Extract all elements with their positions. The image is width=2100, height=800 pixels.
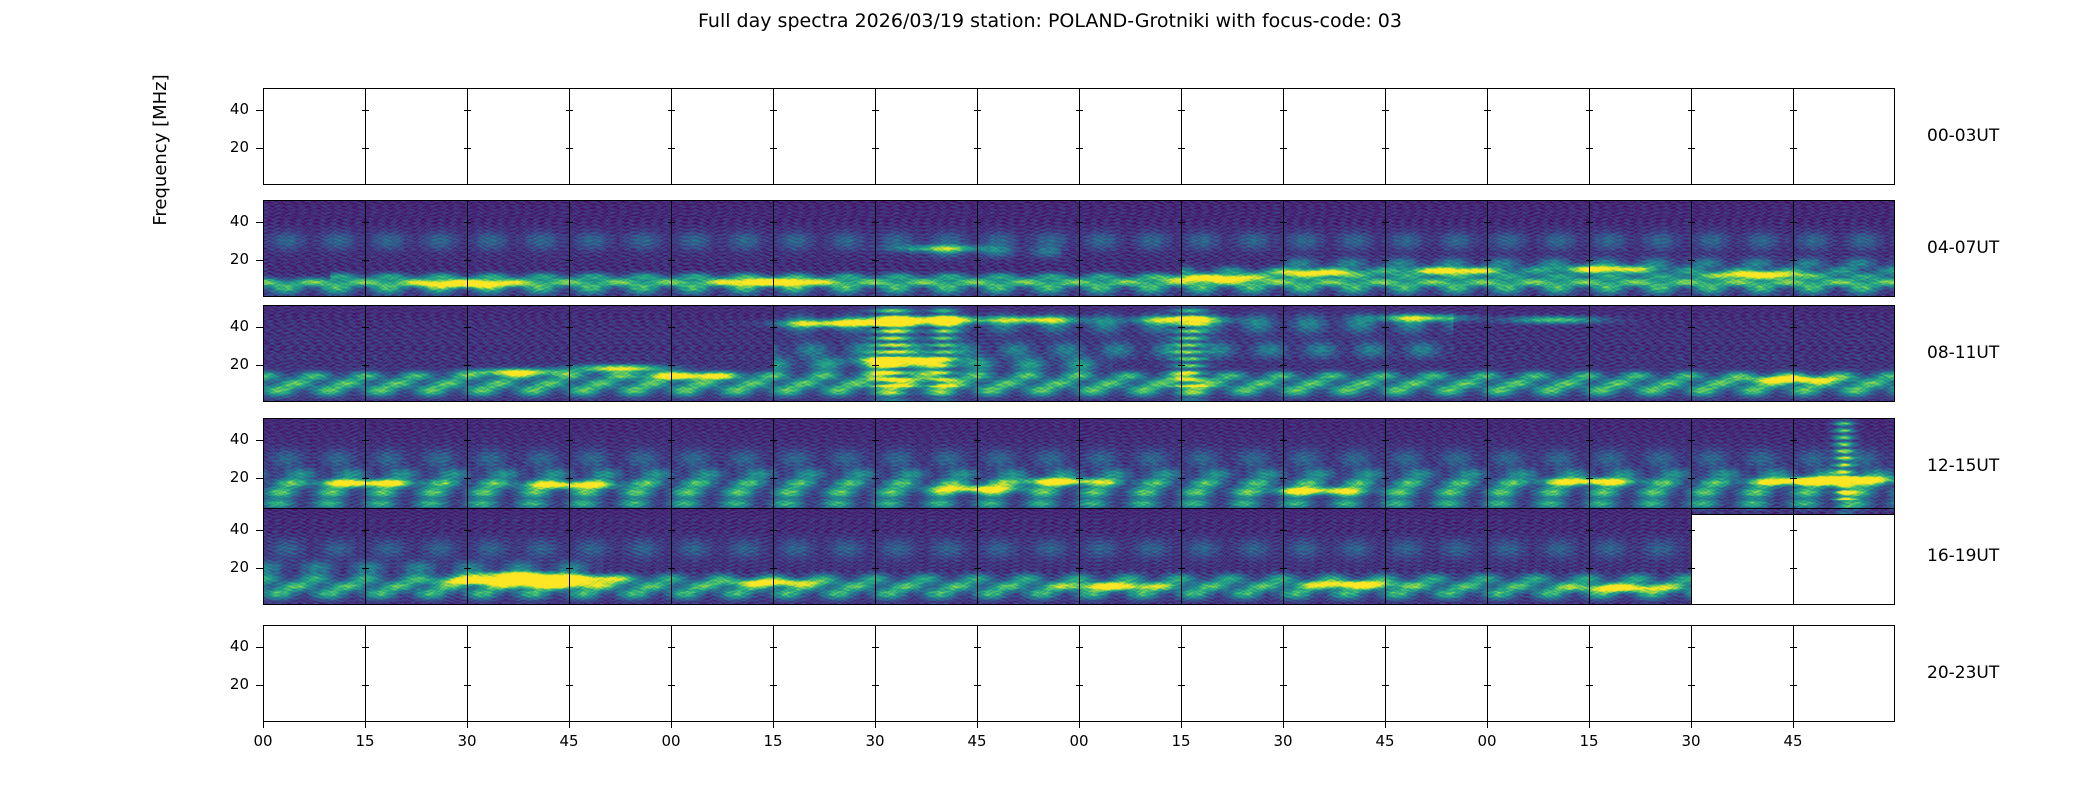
y-tick-inner: [668, 148, 675, 149]
y-tick-inner: [1382, 647, 1389, 648]
y-tick-inner: [974, 685, 981, 686]
x-tick-label: 45: [539, 732, 599, 750]
panel-divider: [569, 88, 570, 185]
y-tick: [256, 110, 263, 111]
panel-divider: [1385, 88, 1386, 185]
x-tick-label: 30: [437, 732, 497, 750]
x-tick: [569, 722, 570, 728]
x-tick: [1589, 722, 1590, 728]
y-tick-inner: [1280, 148, 1287, 149]
y-tick-inner: [1688, 148, 1695, 149]
y-tick-inner: [1484, 110, 1491, 111]
y-tick-inner: [872, 685, 879, 686]
y-tick-inner: [566, 647, 573, 648]
y-tick: [256, 647, 263, 648]
y-tick-label: 20: [205, 138, 249, 156]
y-tick-inner: [770, 148, 777, 149]
panel-divider: [875, 625, 876, 722]
y-tick-inner: [1790, 110, 1797, 111]
y-tick-label: 20: [205, 250, 249, 268]
y-tick-inner: [1178, 685, 1185, 686]
y-tick-inner: [1280, 685, 1287, 686]
y-tick-inner: [1790, 685, 1797, 686]
panel-divider: [1385, 625, 1386, 722]
y-tick: [256, 222, 263, 223]
y-tick-label: 40: [205, 212, 249, 230]
x-tick: [1385, 722, 1386, 728]
y-tick-label: 20: [205, 675, 249, 693]
y-tick: [256, 260, 263, 261]
spectrogram-heatmap: [263, 418, 1895, 515]
panel-divider: [1079, 625, 1080, 722]
row-frame: [263, 625, 1895, 722]
y-tick-inner: [1484, 685, 1491, 686]
panel-divider: [1079, 88, 1080, 185]
x-tick-label: 30: [845, 732, 905, 750]
spectrogram-heatmap: [263, 508, 1691, 605]
y-tick-inner: [1790, 530, 1797, 531]
y-tick-label: 40: [205, 430, 249, 448]
y-tick-inner: [872, 647, 879, 648]
panel-divider: [1793, 88, 1794, 185]
row-label-08-11ut: 08-11UT: [1927, 343, 1999, 363]
x-tick: [1181, 722, 1182, 728]
panel-divider: [977, 625, 978, 722]
panel-divider: [1793, 625, 1794, 722]
y-tick-label: 40: [205, 317, 249, 335]
y-tick-inner: [1688, 685, 1695, 686]
y-tick: [256, 478, 263, 479]
y-tick: [256, 440, 263, 441]
spectrogram-row: [263, 200, 1895, 297]
y-tick-inner: [1586, 685, 1593, 686]
panel-divider: [365, 88, 366, 185]
y-tick: [256, 568, 263, 569]
y-tick-inner: [770, 685, 777, 686]
y-tick-inner: [1178, 110, 1185, 111]
panel-divider: [1589, 88, 1590, 185]
y-tick-inner: [668, 685, 675, 686]
x-tick: [467, 722, 468, 728]
panel-divider: [1691, 88, 1692, 185]
y-tick-label: 20: [205, 468, 249, 486]
y-tick-inner: [566, 148, 573, 149]
y-tick: [256, 685, 263, 686]
y-tick-inner: [1076, 148, 1083, 149]
panel-divider: [467, 88, 468, 185]
y-tick-label: 20: [205, 355, 249, 373]
y-tick-inner: [1790, 568, 1797, 569]
y-tick-inner: [974, 110, 981, 111]
panel-divider: [773, 625, 774, 722]
y-tick-label: 40: [205, 637, 249, 655]
y-tick-inner: [1382, 148, 1389, 149]
y-tick-inner: [1076, 110, 1083, 111]
x-tick-label: 45: [1763, 732, 1823, 750]
panel-divider: [1283, 88, 1284, 185]
y-tick-inner: [1178, 647, 1185, 648]
panel-divider: [365, 625, 366, 722]
panel-divider: [773, 88, 774, 185]
spectrogram-row: [263, 305, 1895, 402]
y-tick-inner: [1790, 647, 1797, 648]
spectrogram-heatmap: [263, 305, 1895, 402]
x-tick-label: 15: [743, 732, 803, 750]
y-tick-inner: [464, 685, 471, 686]
x-tick: [1487, 722, 1488, 728]
y-tick-inner: [1178, 148, 1185, 149]
spectrogram-row: [263, 88, 1895, 185]
y-tick-inner: [770, 647, 777, 648]
y-tick-inner: [1076, 685, 1083, 686]
row-label-16-19ut: 16-19UT: [1927, 546, 1999, 566]
panel-divider: [1487, 88, 1488, 185]
y-tick-label: 20: [205, 558, 249, 576]
x-tick-label: 30: [1253, 732, 1313, 750]
y-tick-inner: [1280, 647, 1287, 648]
y-tick-inner: [464, 148, 471, 149]
panel-divider: [569, 625, 570, 722]
x-tick-label: 45: [1355, 732, 1415, 750]
y-tick-inner: [362, 148, 369, 149]
x-tick-label: 00: [233, 732, 293, 750]
y-tick-inner: [668, 647, 675, 648]
x-tick: [263, 722, 264, 728]
y-tick-inner: [362, 110, 369, 111]
x-tick-label: 45: [947, 732, 1007, 750]
y-tick: [256, 327, 263, 328]
spectrogram-row: [263, 418, 1895, 515]
row-label-12-15ut: 12-15UT: [1927, 456, 1999, 476]
x-tick: [977, 722, 978, 728]
row-label-04-07ut: 04-07UT: [1927, 238, 1999, 258]
panel-divider: [1181, 88, 1182, 185]
y-tick-inner: [1688, 110, 1695, 111]
panel-divider: [1283, 625, 1284, 722]
y-tick-inner: [872, 148, 879, 149]
y-tick-inner: [1382, 110, 1389, 111]
spectrogram-row: [263, 508, 1895, 605]
y-tick-inner: [1484, 148, 1491, 149]
y-tick-inner: [1790, 148, 1797, 149]
y-tick: [256, 365, 263, 366]
x-tick: [671, 722, 672, 728]
y-tick-inner: [1688, 647, 1695, 648]
x-tick: [875, 722, 876, 728]
y-tick-inner: [362, 647, 369, 648]
y-tick-inner: [1586, 647, 1593, 648]
x-tick-label: 00: [1457, 732, 1517, 750]
y-tick-inner: [1382, 685, 1389, 686]
x-tick: [773, 722, 774, 728]
panel-divider: [1487, 625, 1488, 722]
panel-divider: [467, 625, 468, 722]
spectrogram-figure: Full day spectra 2026/03/19 station: POL…: [0, 0, 2100, 800]
panel-divider: [671, 88, 672, 185]
y-tick-inner: [1280, 110, 1287, 111]
y-tick-inner: [872, 110, 879, 111]
panel-divider: [671, 625, 672, 722]
y-axis-label: Frequency [MHz]: [150, 40, 171, 260]
page-title: Full day spectra 2026/03/19 station: POL…: [0, 10, 2100, 32]
x-tick: [1079, 722, 1080, 728]
y-tick-inner: [566, 110, 573, 111]
x-tick-label: 15: [1151, 732, 1211, 750]
x-tick-label: 00: [641, 732, 701, 750]
y-tick-inner: [1076, 647, 1083, 648]
panel-divider: [977, 88, 978, 185]
spectrogram-heatmap: [263, 200, 1895, 297]
y-tick: [256, 148, 263, 149]
panel-divider: [1691, 508, 1692, 605]
panel-divider: [1181, 625, 1182, 722]
y-tick-inner: [464, 110, 471, 111]
panel-divider: [875, 88, 876, 185]
y-tick-inner: [974, 647, 981, 648]
y-tick-inner: [974, 148, 981, 149]
y-tick-inner: [1586, 110, 1593, 111]
row-frame: [263, 88, 1895, 185]
x-tick-label: 00: [1049, 732, 1109, 750]
x-tick: [1283, 722, 1284, 728]
spectrogram-row: [263, 625, 1895, 722]
panel-divider: [1691, 625, 1692, 722]
y-tick-inner: [1586, 148, 1593, 149]
y-tick-inner: [362, 685, 369, 686]
row-label-00-03ut: 00-03UT: [1927, 126, 1999, 146]
row-label-20-23ut: 20-23UT: [1927, 663, 1999, 683]
y-tick-label: 40: [205, 520, 249, 538]
y-tick-inner: [464, 647, 471, 648]
y-tick-inner: [770, 110, 777, 111]
x-tick-label: 30: [1661, 732, 1721, 750]
x-tick: [1793, 722, 1794, 728]
x-tick: [1691, 722, 1692, 728]
panel-divider: [1793, 508, 1794, 605]
y-tick-inner: [668, 110, 675, 111]
y-tick: [256, 530, 263, 531]
x-tick-label: 15: [1559, 732, 1619, 750]
panel-divider: [1589, 625, 1590, 722]
y-tick-label: 40: [205, 100, 249, 118]
y-tick-inner: [566, 685, 573, 686]
x-tick-label: 15: [335, 732, 395, 750]
y-tick-inner: [1484, 647, 1491, 648]
x-tick: [365, 722, 366, 728]
